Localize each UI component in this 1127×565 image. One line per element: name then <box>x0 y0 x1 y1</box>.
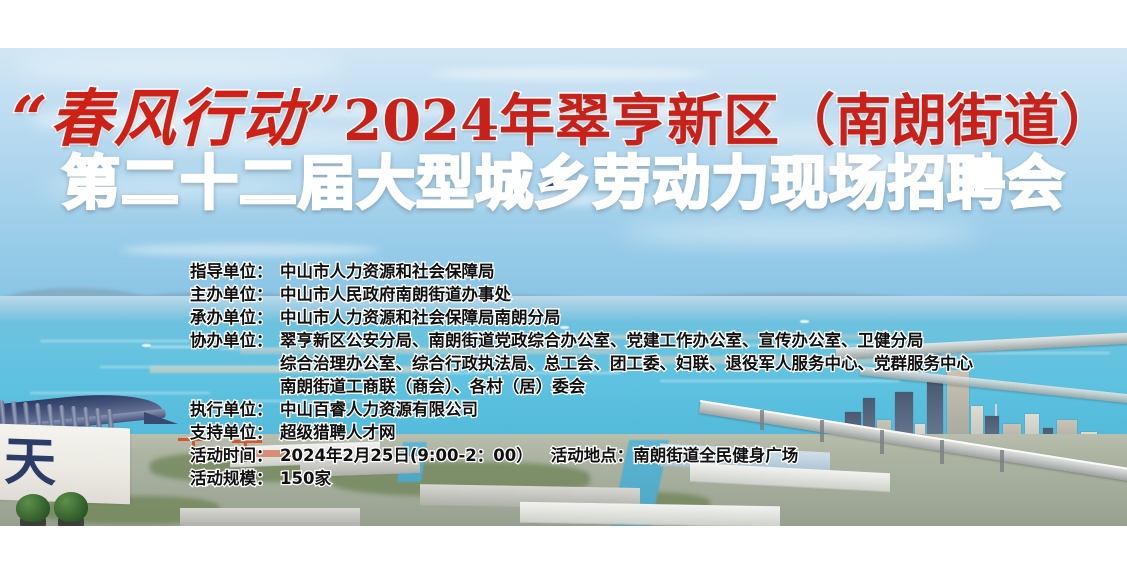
detail-label: 协办单位： <box>190 329 280 352</box>
pavilion-roof-upsweep <box>144 412 178 424</box>
warehouse <box>520 502 780 526</box>
detail-label: 承办单位： <box>190 306 280 329</box>
poster-image: 天 “春风行动”2024年翠亨新区（南朗街道） 第二十二届大型城乡劳动力现场招聘… <box>0 48 1127 526</box>
shrub <box>16 494 50 522</box>
cloud <box>10 60 350 78</box>
headline-campaign-name: 春风行动 <box>50 82 306 155</box>
detail-label: 活动规模： <box>190 467 280 490</box>
detail-value: 超级猎聘人才网 <box>280 421 396 444</box>
detail-row-coorganizer-cont-1: 综合治理办公室、综合行政执法局、总工会、团工委、妇联、退役军人服务中心、党群服务… <box>190 352 1090 375</box>
wall-calligraphy-character: 天 <box>4 436 56 490</box>
detail-row-supporter: 支持单位： 超级猎聘人才网 <box>190 421 1090 444</box>
detail-value-continuation: 综合治理办公室、综合行政执法局、总工会、团工委、妇联、退役军人服务中心、党群服务… <box>190 352 973 375</box>
detail-row-organizer: 承办单位： 中山市人力资源和社会保障局南朗分局 <box>190 306 1090 329</box>
detail-value: 翠亨新区公安分局、南朗街道党政综合办公室、党建工作办公室、宣传办公室、卫健分局 <box>280 329 924 352</box>
headline-quote-open: “ <box>12 82 50 155</box>
headline-line-1: “春风行动”2024年翠亨新区（南朗街道） <box>0 88 1127 150</box>
warehouse <box>180 508 360 526</box>
detail-row-scale: 活动规模： 150家 <box>190 467 1090 490</box>
detail-row-guidance: 指导单位： 中山市人力资源和社会保障局 <box>190 260 1090 283</box>
headline-line-1-rest: 2024年翠亨新区（南朗街道） <box>343 88 1115 154</box>
detail-label: 支持单位： <box>190 421 280 444</box>
cloud <box>620 224 980 242</box>
detail-value: 中山市人力资源和社会保障局 <box>280 260 495 283</box>
detail-row-time-and-place: 活动时间： 2024年2月25日(9:00-2：00） 活动地点： 南朗街道全民… <box>190 444 1090 467</box>
event-place-label: 活动地点： <box>551 444 634 467</box>
headline-line-2: 第二十二届大型城乡劳动力现场招聘会 <box>0 154 1127 212</box>
detail-value: 中山市人民政府南朗街道办事处 <box>280 283 511 306</box>
detail-row-executor: 执行单位： 中山百睿人力资源有限公司 <box>190 398 1090 421</box>
detail-value: 中山百睿人力资源有限公司 <box>280 398 478 421</box>
detail-row-host: 主办单位： 中山市人民政府南朗街道办事处 <box>190 283 1090 306</box>
event-time-label: 活动时间： <box>190 444 280 467</box>
event-place-value: 南朗街道全民健身广场 <box>633 444 798 467</box>
event-time-value: 2024年2月25日(9:00-2：00） <box>280 444 533 467</box>
detail-label: 指导单位： <box>190 260 280 283</box>
poster-headline: “春风行动”2024年翠亨新区（南朗街道） 第二十二届大型城乡劳动力现场招聘会 <box>0 88 1127 212</box>
detail-row-coorganizer-cont-2: 南朗街道工商联（商会）、各村（居）委会 <box>190 375 1090 398</box>
cloud <box>430 68 710 80</box>
detail-value: 150家 <box>280 467 331 490</box>
detail-label: 主办单位： <box>190 283 280 306</box>
poster-details: 指导单位： 中山市人力资源和社会保障局 主办单位： 中山市人民政府南朗街道办事处… <box>190 260 1090 490</box>
shrub <box>54 492 88 522</box>
headline-subtitle: 第二十二届大型城乡劳动力现场招聘会 <box>62 149 1065 217</box>
headline-quote-close: ” <box>306 82 344 155</box>
detail-value: 中山市人力资源和社会保障局南朗分局 <box>280 306 561 329</box>
detail-label: 执行单位： <box>190 398 280 421</box>
traditional-pavilion: 天 <box>0 382 194 526</box>
detail-value-continuation: 南朗街道工商联（商会）、各村（居）委会 <box>190 375 585 398</box>
detail-row-coorganizer: 协办单位： 翠亨新区公安分局、南朗街道党政综合办公室、党建工作办公室、宣传办公室… <box>190 329 1090 352</box>
cloud <box>120 244 380 256</box>
